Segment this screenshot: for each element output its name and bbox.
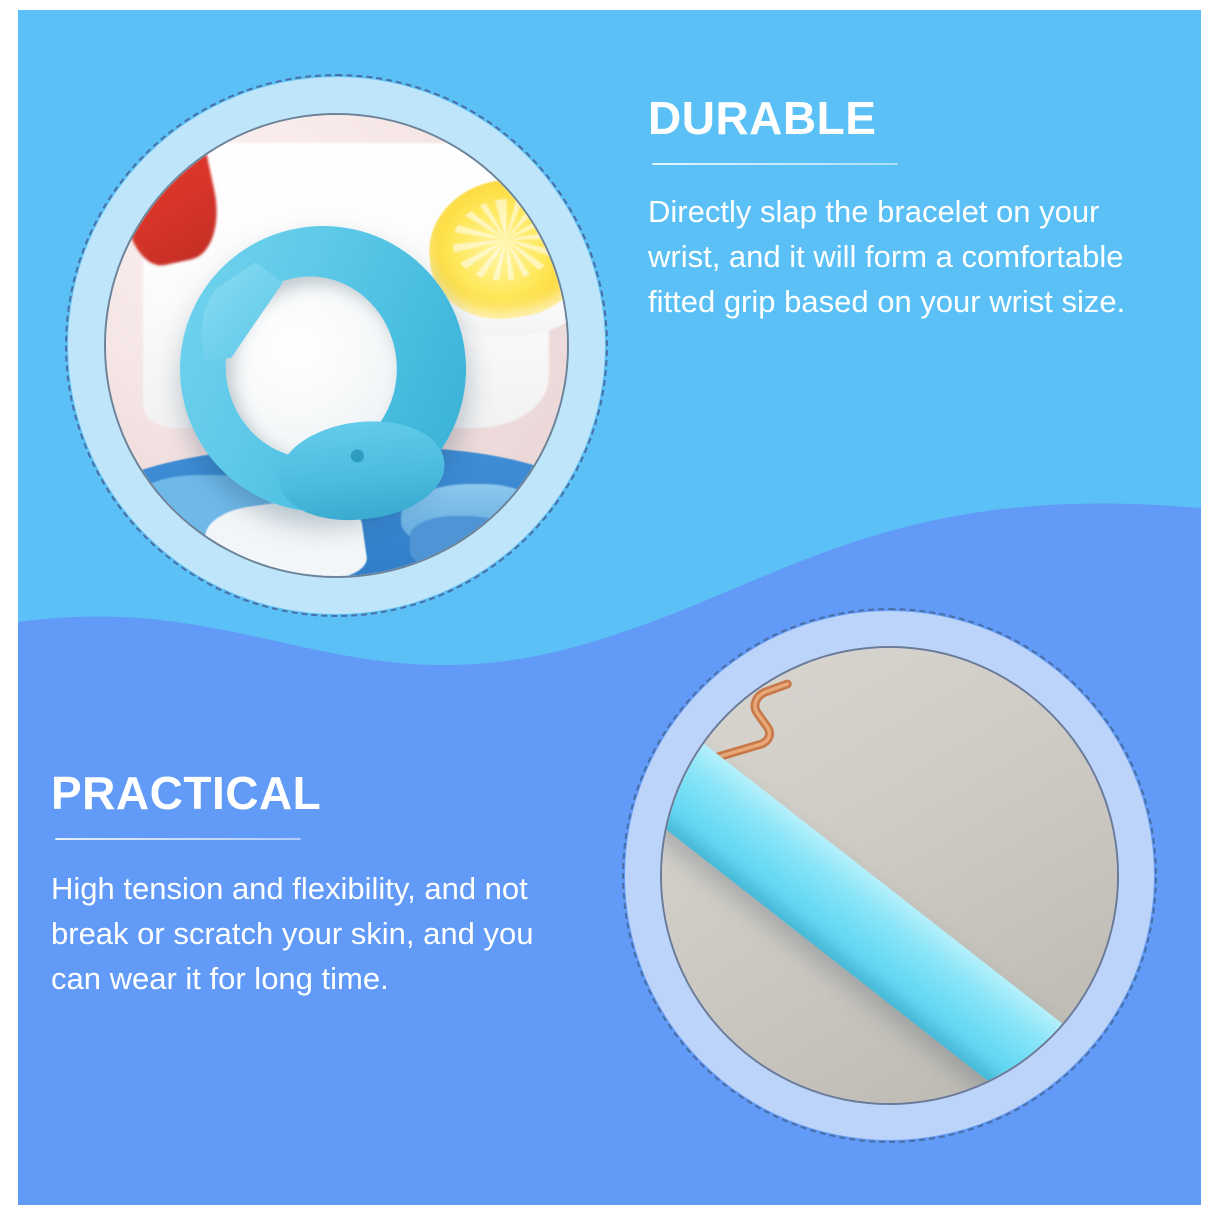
photo-bracelet-coil	[163, 209, 482, 528]
product-photo-durable	[65, 74, 608, 617]
heading-divider-rule	[55, 838, 301, 840]
photo-flat-strip	[662, 648, 1117, 1103]
photo-foam-shape-d	[410, 516, 521, 567]
feature-block-practical: PRACTICAL High tension and flexibility, …	[51, 770, 556, 1001]
feature-block-durable: DURABLE Directly slap the bracelet on yo…	[648, 95, 1153, 324]
colored-panel: DURABLE Directly slap the bracelet on yo…	[18, 10, 1201, 1205]
heading-durable: DURABLE	[648, 95, 1153, 141]
product-photo-practical	[622, 608, 1157, 1143]
heading-divider-rule	[652, 163, 898, 165]
photo-coiled-bracelet	[106, 115, 567, 576]
heading-practical: PRACTICAL	[51, 770, 556, 816]
body-text-practical: High tension and flexibility, and not br…	[51, 866, 556, 1001]
infographic-canvas: DURABLE Directly slap the bracelet on yo…	[0, 0, 1223, 1223]
body-text-durable: Directly slap the bracelet on your wrist…	[648, 189, 1153, 324]
